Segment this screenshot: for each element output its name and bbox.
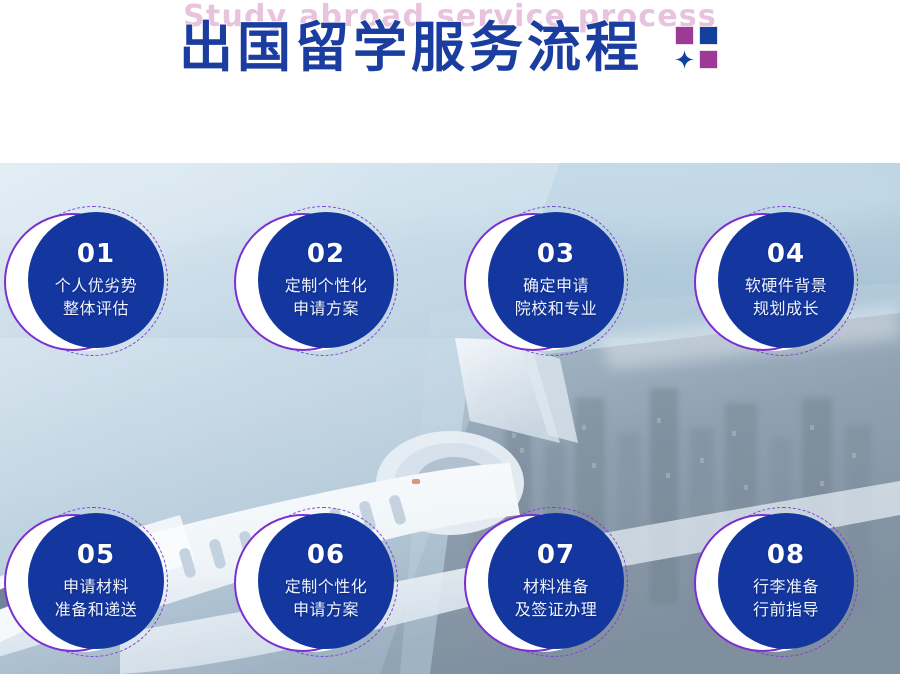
step-text-line2: 准备和递送 (55, 598, 138, 621)
step-text-line1: 申请材料 (63, 575, 129, 598)
sparkle-star-icon (675, 50, 694, 69)
purple-square-icon (699, 50, 718, 69)
infographic-poster: Study abroad service process 出国留学服务流程 (0, 0, 900, 674)
step-text-line2: 及签证办理 (515, 598, 598, 621)
step-text-line2: 申请方案 (293, 297, 359, 320)
step-disc[interactable]: 08 行李准备 行前指导 (718, 513, 854, 649)
step-number: 06 (307, 541, 345, 569)
title-decoration (673, 24, 721, 72)
step-text-line1: 定制个性化 (285, 575, 368, 598)
step-disc[interactable]: 04 软硬件背景 规划成长 (718, 212, 854, 348)
step-number: 08 (767, 541, 805, 569)
step-text-line1: 软硬件背景 (745, 274, 828, 297)
step-disc[interactable]: 07 材料准备 及签证办理 (488, 513, 624, 649)
page-title: 出国留学服务流程 (179, 18, 643, 78)
step-number: 03 (537, 240, 575, 268)
step-text-line2: 规划成长 (753, 297, 819, 320)
step-item-02[interactable]: 02 定制个性化 申请方案 (222, 201, 422, 361)
poster-header: Study abroad service process 出国留学服务流程 (0, 0, 900, 163)
step-text-line1: 定制个性化 (285, 274, 368, 297)
title-row: 出国留学服务流程 (0, 18, 900, 78)
step-disc[interactable]: 06 定制个性化 申请方案 (258, 513, 394, 649)
step-disc[interactable]: 05 申请材料 准备和递送 (28, 513, 164, 649)
step-text-line2: 行前指导 (753, 598, 819, 621)
step-number: 02 (307, 240, 345, 268)
step-item-05[interactable]: 05 申请材料 准备和递送 (0, 502, 192, 662)
step-disc[interactable]: 02 定制个性化 申请方案 (258, 212, 394, 348)
blue-square-icon (699, 26, 718, 45)
step-number: 07 (537, 541, 575, 569)
step-text-line1: 确定申请 (523, 274, 589, 297)
step-item-01[interactable]: 01 个人优劣势 整体评估 (0, 201, 192, 361)
step-text-line1: 个人优劣势 (55, 274, 138, 297)
step-text-line2: 整体评估 (63, 297, 129, 320)
step-text-line1: 材料准备 (523, 575, 589, 598)
step-number: 01 (77, 240, 115, 268)
purple-square-icon (675, 26, 694, 45)
step-text-line1: 行李准备 (753, 575, 819, 598)
step-disc[interactable]: 03 确定申请 院校和专业 (488, 212, 624, 348)
step-item-06[interactable]: 06 定制个性化 申请方案 (222, 502, 422, 662)
step-item-08[interactable]: 08 行李准备 行前指导 (682, 502, 882, 662)
step-number: 04 (767, 240, 805, 268)
step-text-line2: 院校和专业 (515, 297, 598, 320)
step-number: 05 (77, 541, 115, 569)
step-grid: 01 个人优劣势 整体评估 02 定制个性化 申请方案 03 确定申请 院校和专… (0, 163, 900, 674)
step-disc[interactable]: 01 个人优劣势 整体评估 (28, 212, 164, 348)
step-item-03[interactable]: 03 确定申请 院校和专业 (452, 201, 652, 361)
step-item-04[interactable]: 04 软硬件背景 规划成长 (682, 201, 882, 361)
step-text-line2: 申请方案 (293, 598, 359, 621)
step-item-07[interactable]: 07 材料准备 及签证办理 (452, 502, 652, 662)
